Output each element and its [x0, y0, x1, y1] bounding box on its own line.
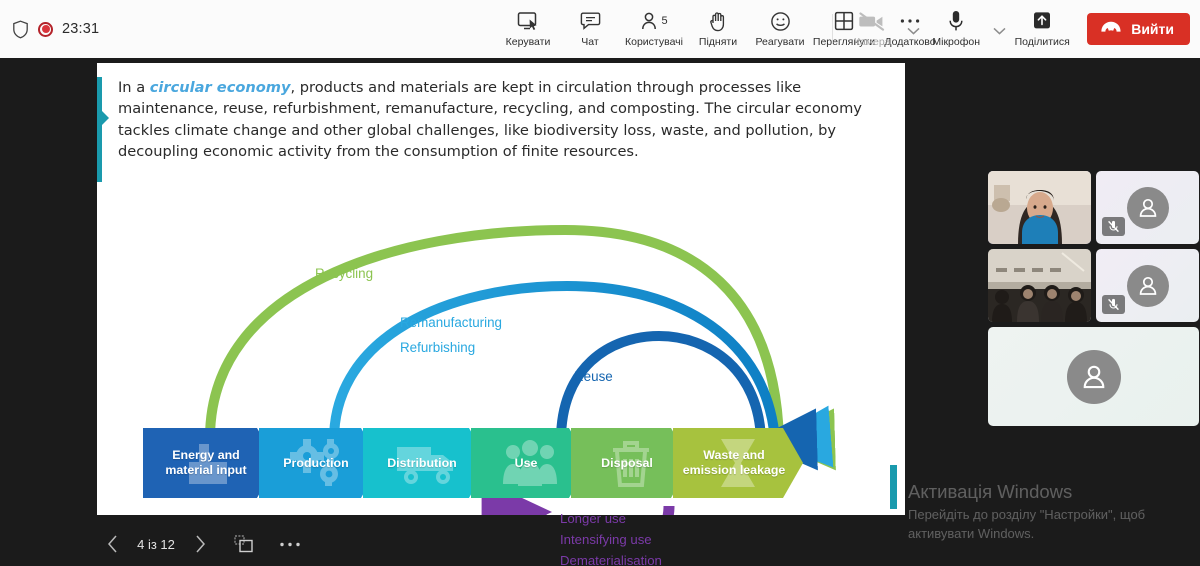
stage-chevron-energy[interactable]: Energy and material input — [143, 428, 277, 498]
toolbar-label: Камера — [854, 37, 891, 49]
stage-label: Use — [511, 456, 550, 471]
participant-rail — [988, 171, 1200, 431]
windows-activation-watermark: Активація Windows Перейдіть до розділу "… — [908, 480, 1198, 543]
mic-muted-icon — [1102, 295, 1125, 314]
people-icon: 5 — [640, 10, 667, 32]
slide-accent-bar-left — [97, 77, 102, 182]
toolbar-label: Користувачі — [625, 37, 683, 49]
raise-hand-icon — [709, 10, 728, 32]
participant-count: 5 — [661, 15, 667, 27]
mic-muted-icon — [1102, 217, 1125, 236]
arc-label-refurbishing: Refurbishing — [400, 340, 475, 355]
shield-icon — [12, 20, 29, 39]
participant-avatar-2[interactable] — [1096, 249, 1199, 322]
prev-slide-button[interactable] — [97, 527, 127, 561]
loop-label-0: Longer use — [560, 508, 662, 529]
slide-layout-button[interactable] — [229, 527, 259, 561]
ellipsis-icon — [279, 541, 301, 548]
avatar — [1127, 187, 1169, 229]
circular-economy-diagram: Recycling Remanufacturing Refurbishing R… — [97, 168, 905, 515]
slide-accent-pointer — [102, 111, 109, 125]
toolbar-item-raise-hand[interactable]: Підняти — [687, 4, 749, 54]
meeting-toolbar: 23:31 Керувати — [0, 0, 1200, 58]
loop-label-1: Intensifying use — [560, 529, 662, 550]
toolbar-label: Керувати — [506, 37, 551, 49]
participant-avatar-1[interactable] — [1096, 171, 1199, 244]
slide-paragraph: In a circular economy, products and mate… — [118, 77, 863, 163]
toolbar-item-participants[interactable]: 5 Користувачі — [621, 4, 687, 54]
stage-label: Waste and emission leakage — [673, 448, 803, 477]
toolbar-label: Підняти — [699, 37, 737, 49]
toolbar-label: Мікрофон — [932, 37, 980, 49]
toolbar-item-microphone[interactable]: Мікрофон — [923, 4, 989, 54]
participant-video-classroom[interactable] — [988, 249, 1091, 322]
stage-chevron-waste[interactable]: Waste and emission leakage — [673, 428, 803, 498]
chevron-left-icon — [107, 535, 118, 553]
chevron-right-icon — [195, 535, 206, 553]
chat-bubble-icon — [580, 10, 601, 32]
participant-rail-row — [988, 249, 1200, 322]
arc-label-remanufacturing: Remanufacturing — [400, 315, 502, 330]
arc-label-reuse: Reuse — [574, 369, 613, 384]
share-up-arrow-icon — [1031, 10, 1053, 32]
slide-layout-icon — [234, 535, 254, 554]
participant-video-speaker[interactable] — [988, 171, 1091, 244]
toolbar-item-camera[interactable]: Камера — [841, 4, 903, 54]
recording-indicator-icon — [38, 22, 53, 37]
arc-label-recycling: Recycling — [315, 266, 373, 281]
leave-button[interactable]: Вийти — [1087, 13, 1190, 45]
participant-rail-row — [988, 327, 1200, 426]
leave-button-label: Вийти — [1131, 21, 1174, 37]
stage-label: Disposal — [597, 456, 665, 471]
slide-more-button[interactable] — [269, 527, 311, 561]
stage-label: Energy and material input — [143, 448, 277, 477]
stage-label: Distribution — [383, 456, 469, 471]
avatar — [1067, 350, 1121, 404]
toolbar-item-react[interactable]: Реагувати — [749, 4, 811, 54]
microphone-icon — [948, 10, 964, 32]
shared-slide[interactable]: In a circular economy, products and mate… — [97, 63, 905, 515]
watermark-body: Перейдіть до розділу "Настройки", щоб ак… — [908, 506, 1198, 543]
paragraph-part-0: In a — [118, 79, 150, 96]
microphone-chevron-down-icon[interactable] — [989, 4, 1009, 54]
slide-page-indicator: 4 із 12 — [127, 527, 185, 561]
toolbar-label: Поділитися — [1015, 37, 1070, 49]
lifecycle-chevron-band: Energy and material input — [143, 428, 803, 498]
participant-avatar-3[interactable] — [988, 327, 1199, 426]
toolbar-right-group: Камера Мікрофон — [824, 0, 1190, 58]
avatar — [988, 171, 1091, 244]
stage-label: Production — [279, 456, 360, 471]
meeting-timer: 23:31 — [62, 21, 99, 37]
loop-label-2: Dematerialisation — [560, 550, 662, 566]
toolbar-label: Реагувати — [755, 37, 804, 49]
slide-navigation: 4 із 12 — [97, 524, 311, 564]
paragraph-emphasis: circular economy — [150, 79, 291, 96]
camera-off-icon — [859, 10, 885, 32]
avatar — [1127, 265, 1169, 307]
smiley-react-icon — [770, 10, 791, 32]
meeting-stage: In a circular economy, products and mate… — [0, 58, 1200, 566]
loop-labels: Longer use Intensifying use Dematerialis… — [560, 508, 662, 566]
hangup-phone-icon — [1100, 21, 1122, 37]
toolbar-divider — [832, 14, 833, 44]
participant-rail-row — [988, 171, 1200, 244]
next-slide-button[interactable] — [185, 527, 215, 561]
watermark-title: Активація Windows — [908, 480, 1198, 504]
toolbar-item-chat[interactable]: Чат — [559, 4, 621, 54]
avatar — [988, 249, 1091, 322]
toolbar-label: Чат — [581, 37, 598, 49]
toolbar-item-share-control[interactable]: Керувати — [497, 4, 559, 54]
meeting-window: 23:31 Керувати — [0, 0, 1200, 566]
toolbar-left-group: 23:31 — [0, 20, 99, 39]
present-screen-icon — [517, 10, 540, 32]
toolbar-item-share[interactable]: Поділитися — [1009, 4, 1075, 54]
camera-chevron-down-icon[interactable] — [903, 4, 923, 54]
